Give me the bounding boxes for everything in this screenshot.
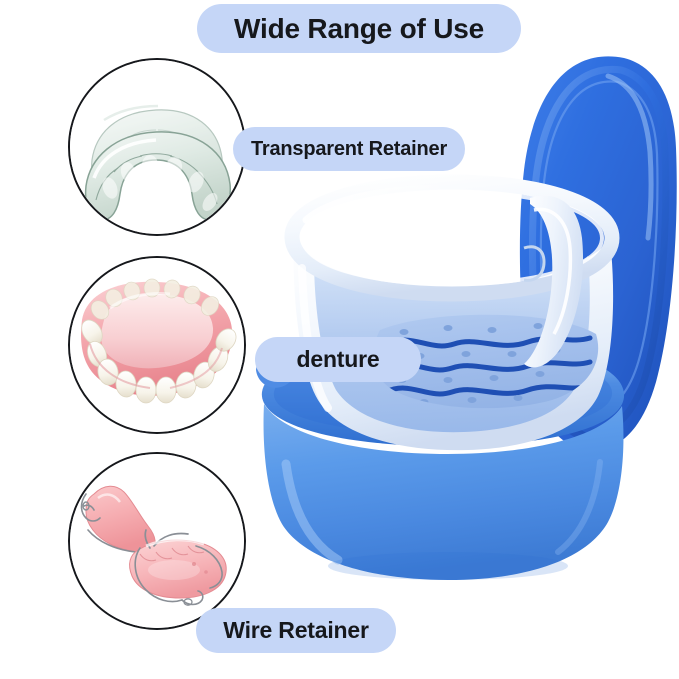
- inset-circle-transparent-retainer: [68, 58, 246, 236]
- product-strainer-basket: [292, 182, 622, 450]
- inset-circle-wire-retainer: [68, 452, 246, 630]
- full-denture-icon: [70, 258, 244, 432]
- label-transparent-retainer: Transparent Retainer: [233, 127, 465, 171]
- wire-retainer-icon: [70, 454, 244, 628]
- label-denture: denture: [255, 337, 421, 382]
- page-title: Wide Range of Use: [197, 4, 521, 53]
- inset-circle-denture: [68, 256, 246, 434]
- label-wire-retainer: Wire Retainer: [196, 608, 396, 653]
- clear-aligner-tray-icon: [70, 60, 244, 234]
- infographic-canvas: Wide Range of Use Transparent Retainer d…: [0, 0, 679, 679]
